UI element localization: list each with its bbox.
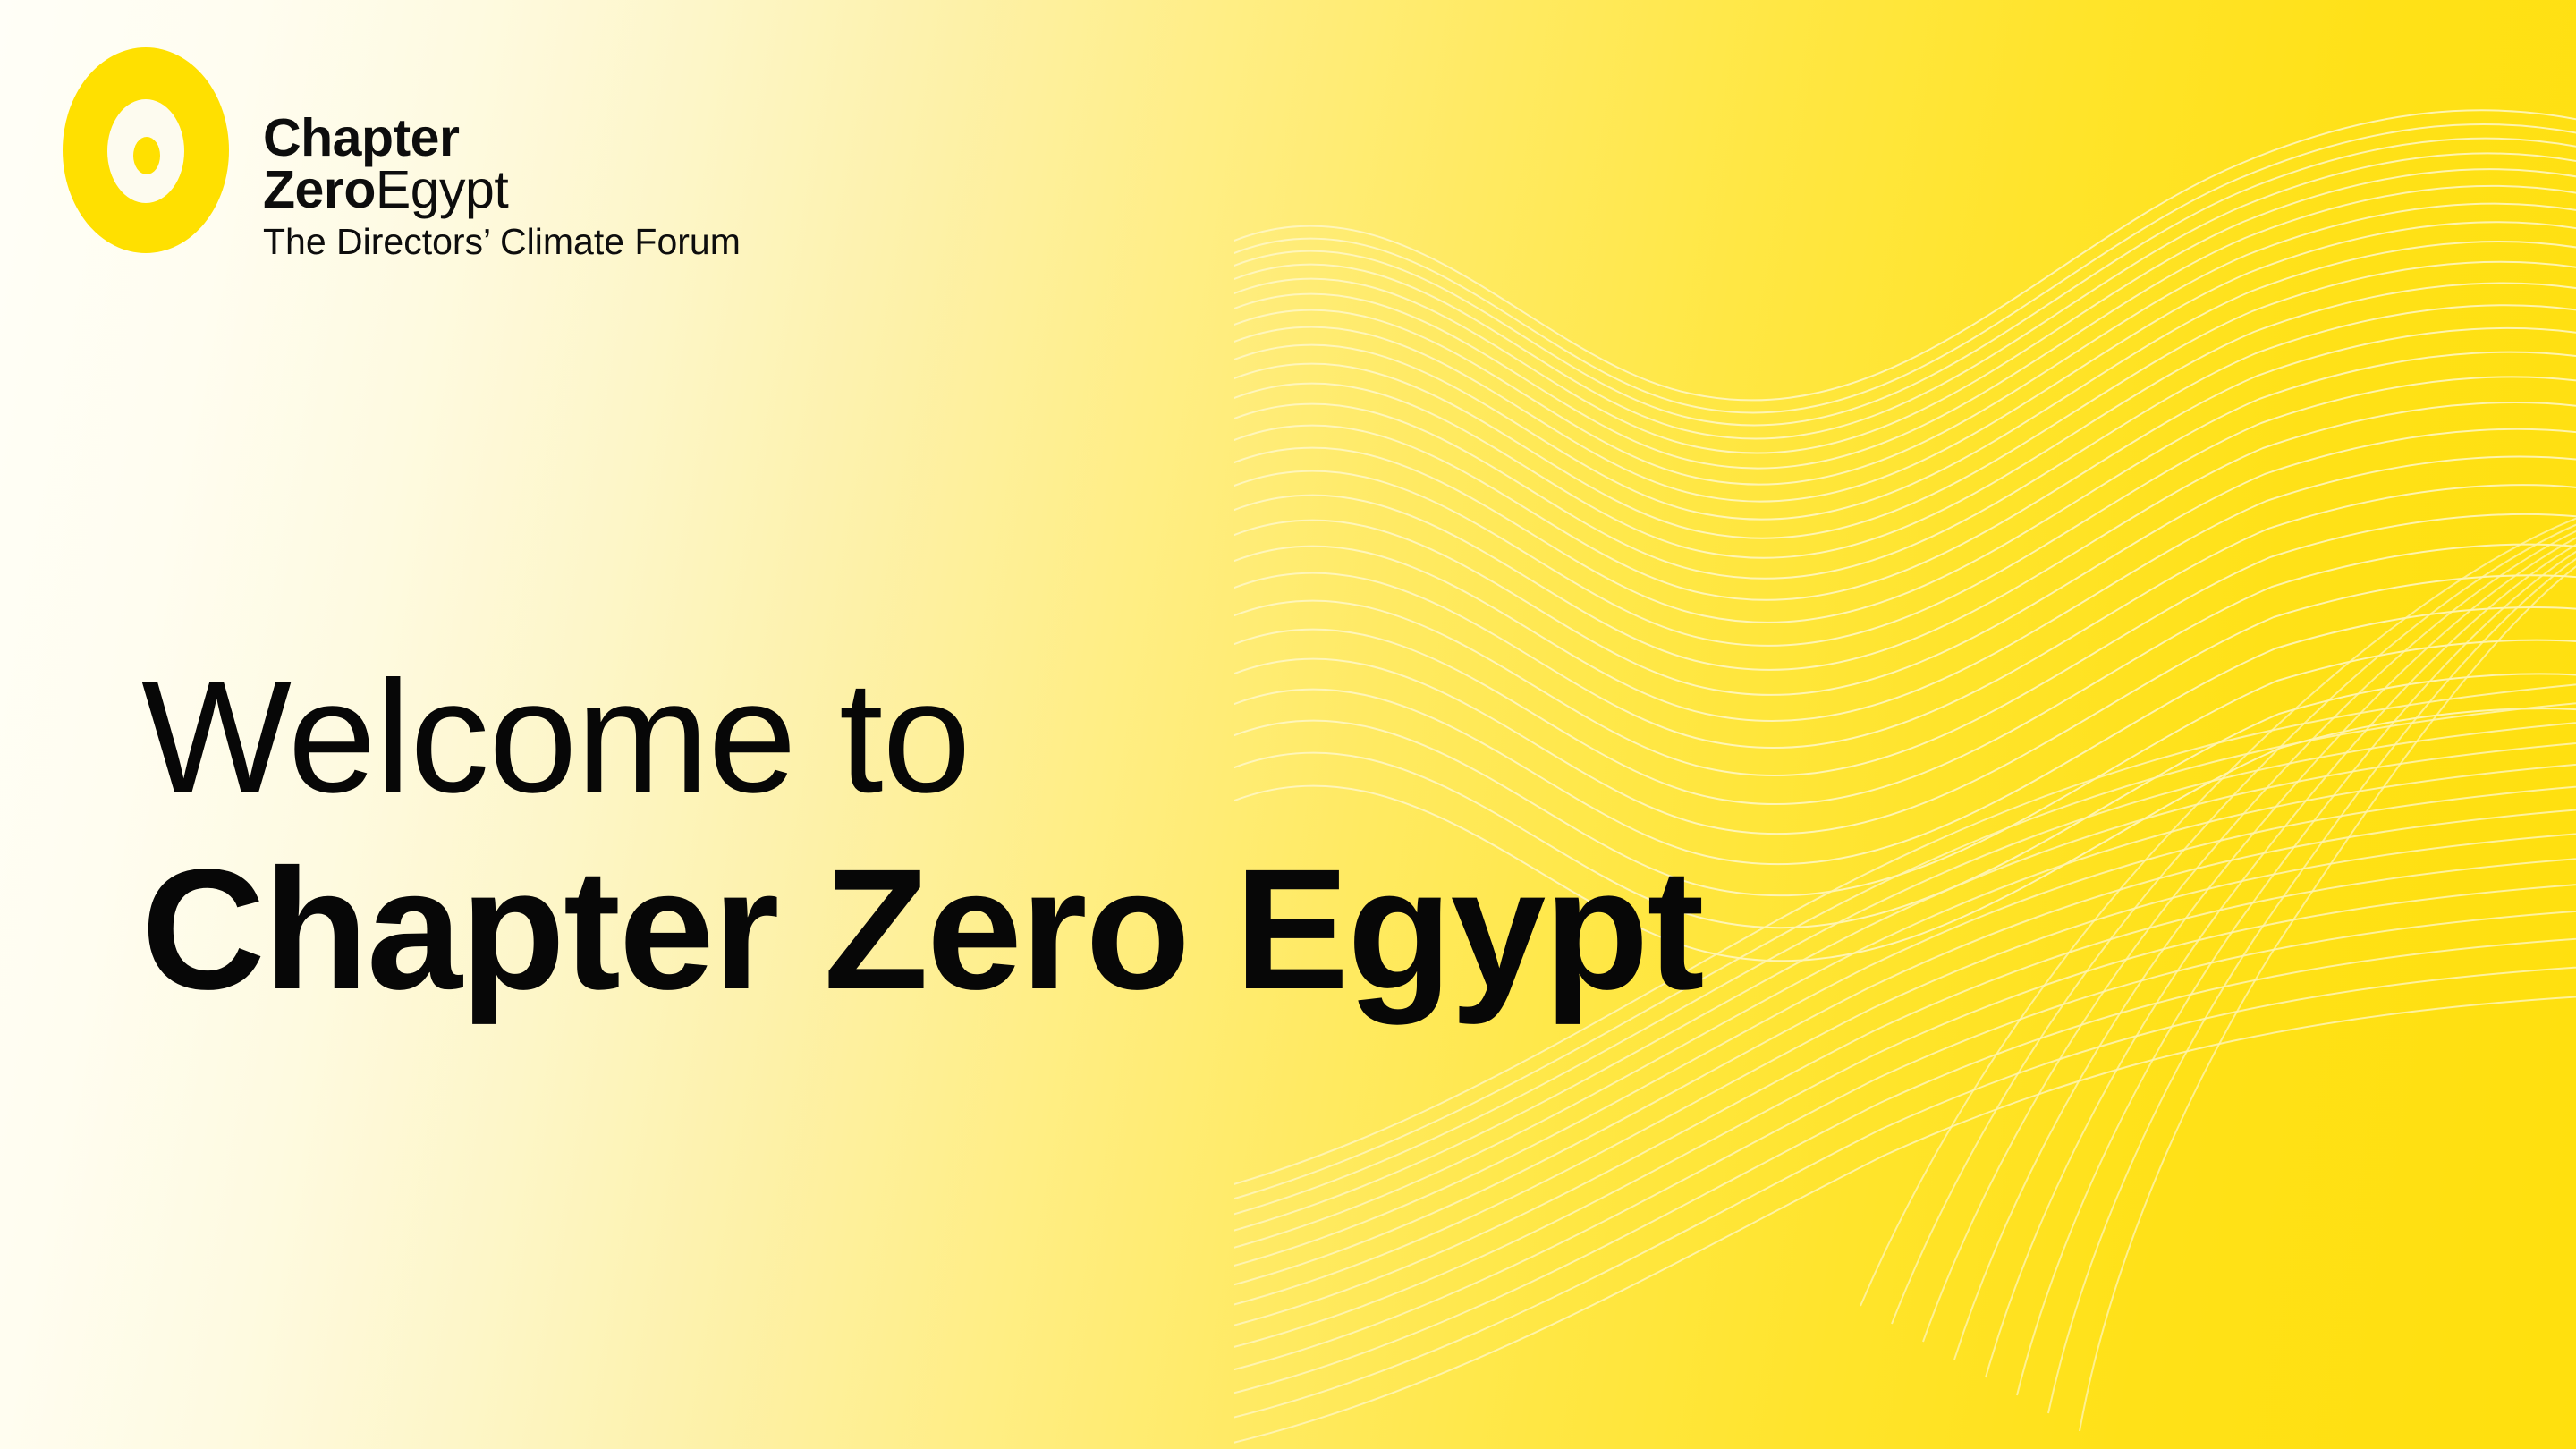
logo-line-chapter: Chapter <box>263 114 741 162</box>
logo-word-zero: Zero <box>263 160 376 219</box>
logo-center-dot <box>133 137 160 174</box>
chapter-zero-logo: Chapter ZeroEgypt The Directors’ Climate… <box>63 40 741 258</box>
logo-tagline: The Directors’ Climate Forum <box>263 225 741 259</box>
partners-strip: Automotive Partner Telecom Partner Annua… <box>0 1181 2576 1449</box>
welcome-slide: Chapter ZeroEgypt The Directors’ Climate… <box>0 0 2576 1449</box>
headline-welcome: Welcome to <box>141 657 1703 817</box>
logo-wordmark: Chapter ZeroEgypt The Directors’ Climate… <box>263 114 741 258</box>
page-title-block: Welcome to Chapter Zero Egypt <box>141 657 1703 1019</box>
headline-main: Chapter Zero Egypt <box>141 840 1703 1019</box>
logo-word-egypt: Egypt <box>376 160 508 219</box>
logo-line-zero-egypt: ZeroEgypt <box>263 165 741 214</box>
chapter-zero-ring-mark-icon <box>63 47 229 253</box>
